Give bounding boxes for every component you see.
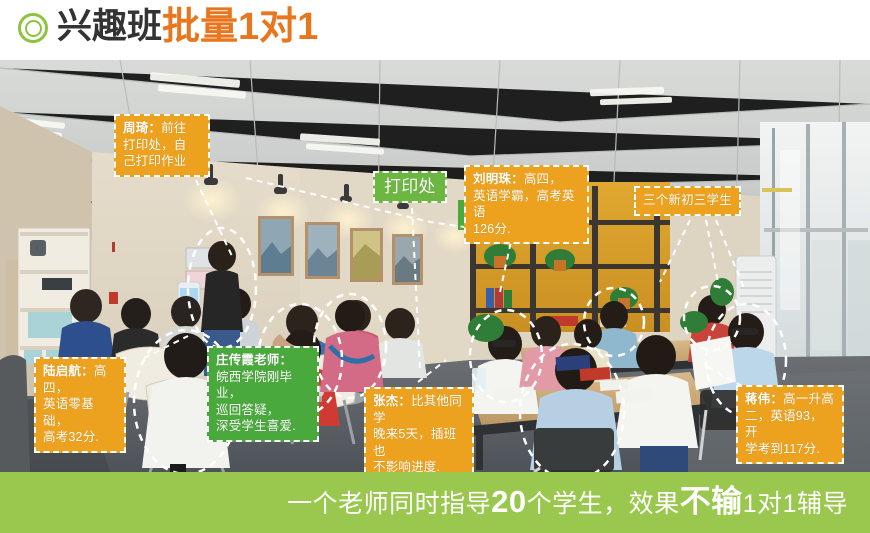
header-bar: 兴趣班 批量1对1 bbox=[0, 0, 870, 60]
poster-root: 兴趣班 批量1对1 bbox=[0, 0, 870, 533]
callout-line: 126分. bbox=[473, 221, 580, 238]
callout-line: 英语零基础， bbox=[43, 396, 117, 429]
banner-seg-1: 一个老师同时指导 bbox=[287, 489, 491, 519]
callout-line: 皖西学院刚毕业， bbox=[216, 369, 310, 402]
callout-line: 打印处 bbox=[384, 176, 436, 197]
banner-seg-3: 个学生， bbox=[527, 489, 629, 519]
callout-luqihang[interactable]: 陆启航：高四， 英语零基础， 高考32分. bbox=[34, 357, 126, 453]
callout-line: 二，英语93，开 bbox=[745, 408, 835, 441]
callout-line: 晚来5天，插班也 bbox=[373, 426, 465, 459]
callout-line: 英语学霸，高考英语 bbox=[473, 188, 580, 221]
callout-line: 蒋伟：高一升高 bbox=[745, 391, 835, 408]
callout-line: 张杰：比其他同学 bbox=[373, 393, 465, 426]
callout-zhangjie[interactable]: 张杰：比其他同学 晚来5天，插班也 不影响进度. bbox=[364, 387, 474, 472]
callout-line: 打印处，自 bbox=[123, 137, 201, 154]
title-primary: 兴趣班 bbox=[57, 7, 162, 47]
callout-line: 周琦：前往 bbox=[123, 120, 201, 137]
callout-line: 学考到117分. bbox=[745, 441, 835, 458]
title-accent: 批量1对1 bbox=[162, 7, 318, 47]
banner-seg-4: 效果 bbox=[629, 489, 680, 519]
callout-zhouqi[interactable]: 周琦：前往 打印处，自 己打印作业 bbox=[114, 114, 210, 177]
callout-jiangwei[interactable]: 蒋伟：高一升高 二，英语93，开 学考到117分. bbox=[736, 385, 844, 464]
callout-liumingzhu[interactable]: 刘明珠：高四， 英语学霸，高考英语 126分. bbox=[464, 165, 589, 244]
banner-slogan: 一个老师同时指导 20 个学生， 效果 不输 1对1辅导 bbox=[287, 487, 870, 519]
banner-seg-buyshu: 不输 bbox=[680, 487, 743, 517]
callout-line: 深受学生喜爱. bbox=[216, 418, 310, 435]
callout-line: 三个新初三学生 bbox=[643, 192, 732, 209]
page-title: 兴趣班 批量1对1 bbox=[18, 2, 318, 52]
banner-seg-20: 20 bbox=[491, 487, 526, 517]
callout-three-students[interactable]: 三个新初三学生 bbox=[634, 186, 741, 216]
callout-line: 陆启航：高四， bbox=[43, 363, 117, 396]
callout-line: 庄传霞老师： bbox=[216, 352, 310, 369]
callout-line: 高考32分. bbox=[43, 429, 117, 446]
callout-line: 不影响进度. bbox=[373, 459, 465, 472]
callout-line: 刘明珠：高四， bbox=[473, 171, 580, 188]
double-circle-icon bbox=[18, 13, 48, 43]
callout-teacher-zhuang[interactable]: 庄传霞老师： 皖西学院刚毕业， 巡回答疑， 深受学生喜爱. bbox=[207, 346, 319, 442]
callout-line: 巡回答疑， bbox=[216, 402, 310, 419]
callout-printer-area[interactable]: 打印处 bbox=[373, 171, 447, 203]
callout-line: 己打印作业 bbox=[123, 153, 201, 170]
classroom-photo: 周琦：前往 打印处，自 己打印作业 打印处 刘明珠：高四， 英语学霸，高考英语 … bbox=[0, 60, 870, 472]
banner-seg-6: 1对1辅导 bbox=[743, 489, 848, 519]
bottom-banner: 一个老师同时指导 20 个学生， 效果 不输 1对1辅导 bbox=[0, 472, 870, 533]
